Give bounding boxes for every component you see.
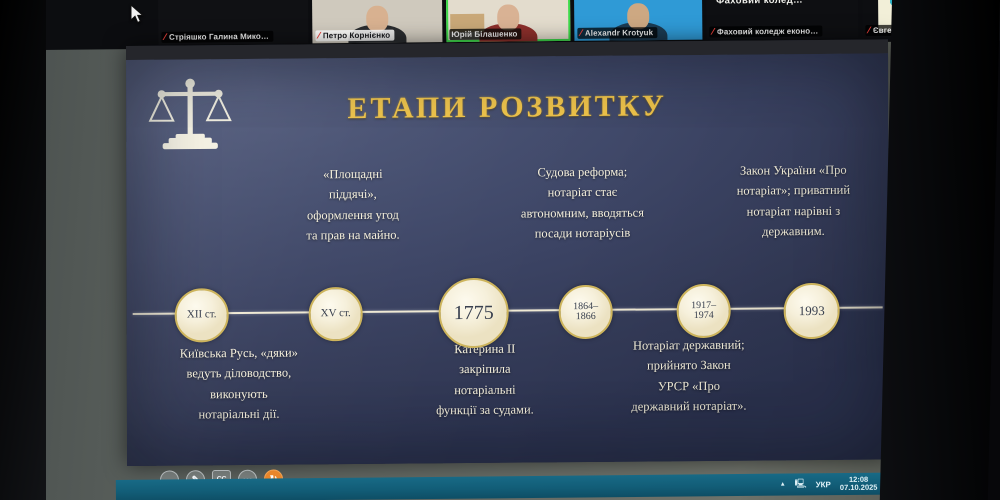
mute-icon: / bbox=[162, 33, 166, 42]
timeline-node-1[interactable]: XII ст. bbox=[175, 288, 229, 342]
participant-tile[interactable]: / Стріяшко Галина Мико… bbox=[158, 0, 308, 45]
participant-tile[interactable]: / Alexandr Krotyuk bbox=[574, 0, 702, 41]
blurb-below-1: Київська Русь, «дяки» ведуть діловодство… bbox=[139, 342, 339, 425]
participant-name-badge: / Alexandr Krotyuk bbox=[577, 27, 657, 39]
slide-canvas: ЕТАПИ РОЗВИТКУ XII ст. XV ст. 1775 1864–… bbox=[126, 53, 889, 466]
taskbar-clock[interactable]: 12:08 07.10.2025 bbox=[840, 476, 878, 492]
blurb-above-3: Закон України «Про нотаріат»; приватний … bbox=[704, 159, 882, 242]
participant-name: Юрій Білашенко bbox=[451, 29, 517, 39]
participant-face bbox=[497, 4, 519, 30]
blurb-above-1: «Площадні піддячі», оформлення угод та п… bbox=[260, 163, 445, 246]
mute-icon: / bbox=[866, 26, 870, 35]
blurb-below-2: Катерина ІІ закріпила нотаріальні функці… bbox=[395, 338, 575, 421]
timeline-node-4[interactable]: 1864– 1866 bbox=[559, 285, 613, 339]
timeline-node-label: 1864– 1866 bbox=[573, 301, 598, 322]
timeline-node-label: 1917– 1974 bbox=[691, 300, 716, 321]
monitor-bezel-right bbox=[880, 0, 1000, 500]
participant-tile[interactable]: / Петро Корнієнко bbox=[312, 0, 442, 43]
timeline-node-label: XV ст. bbox=[321, 308, 351, 320]
clock-date: 07.10.2025 bbox=[840, 484, 878, 492]
blurb-below-3: Нотаріат державний; прийнято Закон УРСР … bbox=[593, 334, 785, 417]
mouse-cursor bbox=[130, 4, 144, 24]
participant-name-badge: / Петро Корнієнко bbox=[315, 30, 394, 42]
timeline-node-6[interactable]: 1993 bbox=[784, 283, 840, 339]
participant-name: Фаховий коледж еконо… bbox=[717, 27, 819, 37]
blurb-above-2: Судова реформа; нотаріат стає автономним… bbox=[482, 161, 682, 244]
monitor-photo: / Стріяшко Галина Мико… / Петро Корнієнк… bbox=[0, 0, 1000, 500]
timeline-node-5[interactable]: 1917– 1974 bbox=[677, 284, 731, 338]
timeline-node-label: 1993 bbox=[799, 304, 825, 318]
language-indicator[interactable]: УКР bbox=[816, 480, 831, 489]
timeline-node-3[interactable]: 1775 bbox=[439, 278, 509, 349]
system-tray[interactable]: ▲ 🖳 УКР 12:08 07.10.2025 ▭ bbox=[780, 476, 896, 493]
monitor-bezel-left bbox=[0, 0, 46, 500]
participant-name-badge: Юрій Білашенко bbox=[449, 28, 521, 40]
slide-title: ЕТАПИ РОЗВИТКУ bbox=[126, 87, 888, 128]
mute-icon: / bbox=[710, 28, 714, 37]
participant-display-name-large: Фаховий колед… bbox=[716, 0, 803, 7]
timeline-node-2[interactable]: XV ст. bbox=[309, 287, 363, 341]
participant-name: Петро Корнієнко bbox=[323, 31, 390, 41]
participant-name-badge: / Фаховий коледж еконо… bbox=[709, 25, 822, 37]
participant-face bbox=[627, 3, 649, 29]
participant-name: Стріяшко Галина Мико… bbox=[169, 32, 269, 42]
participant-name-badge: / Стріяшко Галина Мико… bbox=[161, 31, 273, 43]
timeline-node-label: 1775 bbox=[454, 302, 494, 323]
network-icon[interactable]: 🖳 bbox=[795, 476, 807, 492]
show-hidden-icons-icon[interactable]: ▲ bbox=[780, 482, 786, 488]
participant-tile[interactable]: Фаховий колед… / Фаховий коледж еконо… bbox=[706, 0, 858, 40]
participant-name: Alexandr Krotyuk bbox=[585, 28, 653, 38]
mute-icon: / bbox=[578, 29, 582, 38]
participant-tile-active-speaker[interactable]: Юрій Білашенко bbox=[446, 0, 570, 42]
participant-face bbox=[366, 6, 388, 32]
shared-screen-slide[interactable]: ЕТАПИ РОЗВИТКУ XII ст. XV ст. 1775 1864–… bbox=[126, 39, 889, 466]
mute-icon: / bbox=[316, 31, 320, 40]
timeline-node-label: XII ст. bbox=[187, 310, 217, 322]
